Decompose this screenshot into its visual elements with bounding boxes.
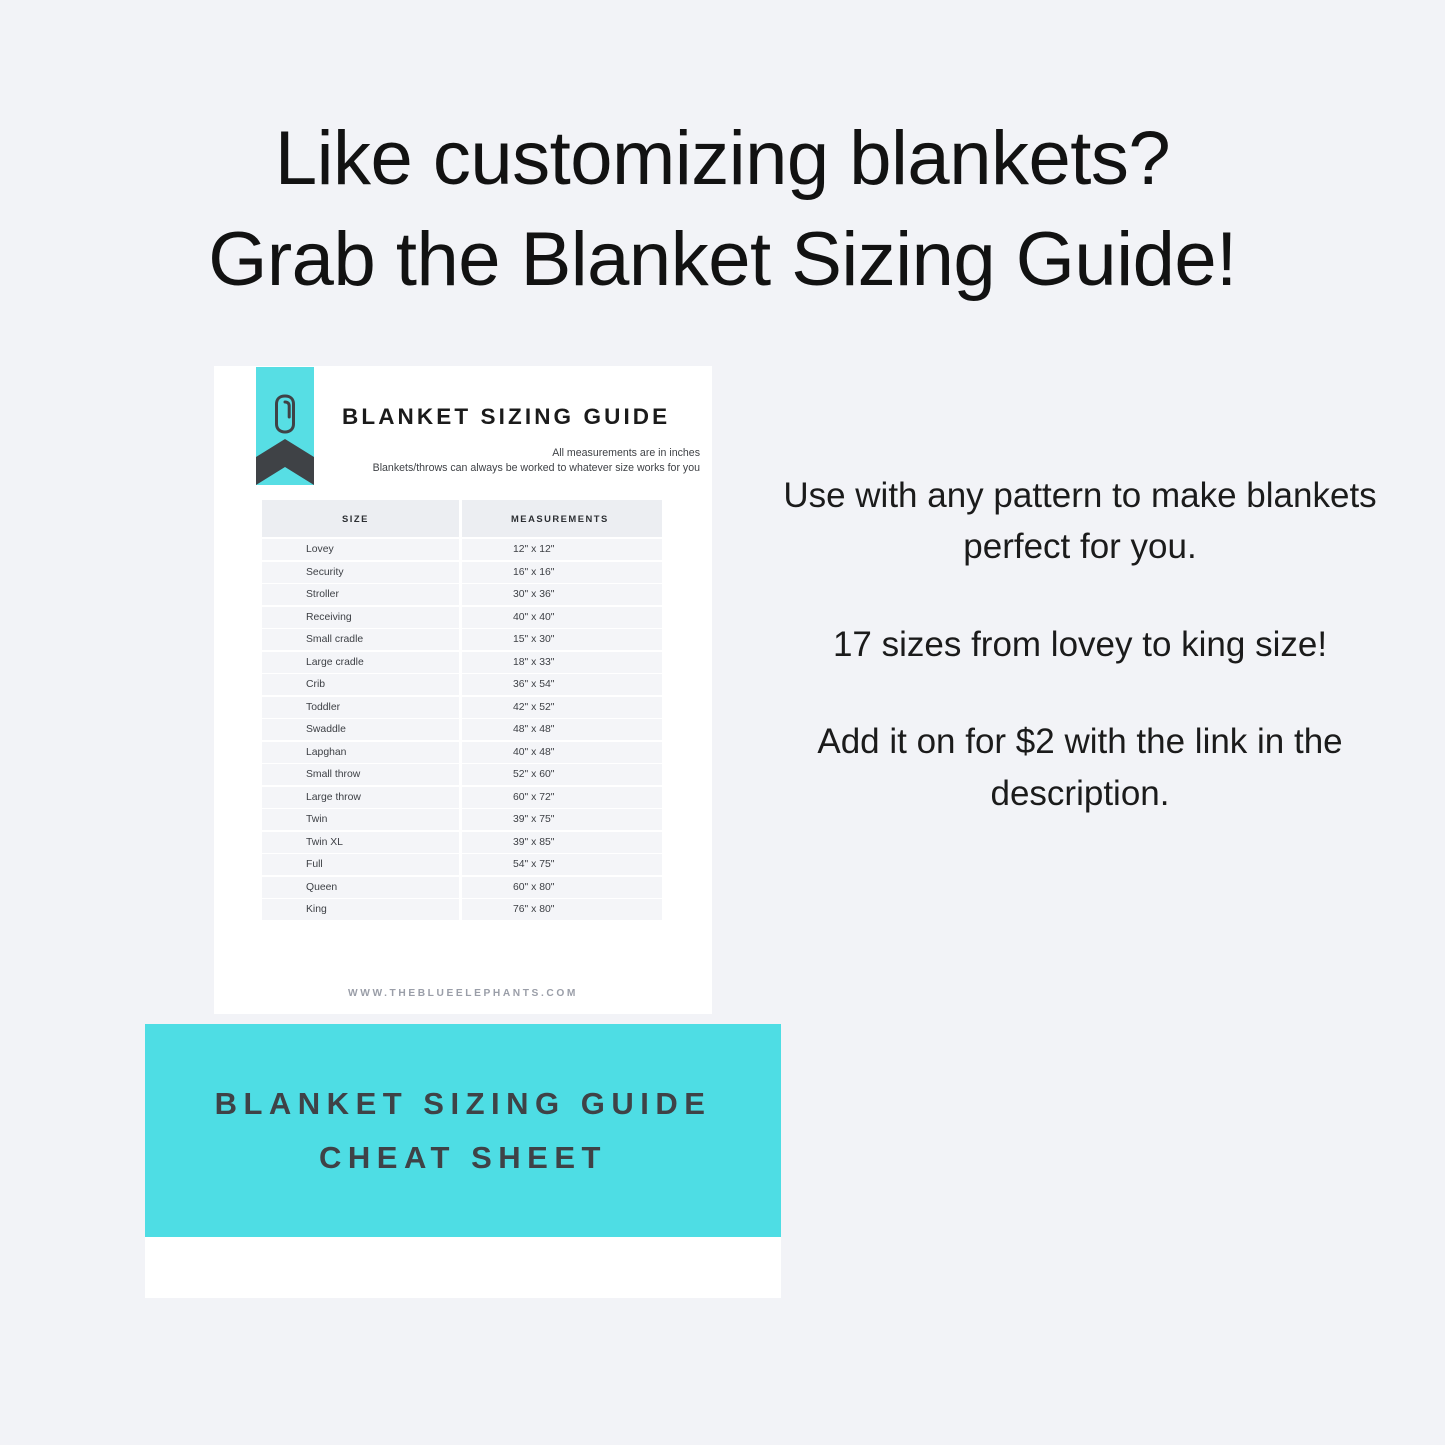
- cheat-sheet-title-line-2: CHEAT SHEET: [215, 1131, 712, 1184]
- cell-measurement: 52" x 60": [462, 764, 662, 785]
- sheet-subtitle-line-1: All measurements are in inches: [310, 446, 700, 461]
- table-row: Security16" x 16": [262, 562, 662, 583]
- headline-line-1: Like customizing blankets?: [0, 108, 1445, 209]
- cell-measurement: 60" x 80": [462, 877, 662, 898]
- cell-measurement: 16" x 16": [462, 562, 662, 583]
- cell-measurement: 54" x 75": [462, 854, 662, 875]
- table-row: Lovey12" x 12": [262, 539, 662, 560]
- table-row: Twin39" x 75": [262, 809, 662, 830]
- table-row: Toddler42" x 52": [262, 697, 662, 718]
- cell-size: Twin XL: [262, 832, 459, 853]
- cell-measurement: 76" x 80": [462, 899, 662, 920]
- table-row: Large throw60" x 72": [262, 787, 662, 808]
- cell-size: King: [262, 899, 459, 920]
- cell-measurement: 36" x 54": [462, 674, 662, 695]
- sheet-subtitle-line-2: Blankets/throws can always be worked to …: [310, 461, 700, 476]
- table-row: Small throw52" x 60": [262, 764, 662, 785]
- table-row: Receiving40" x 40": [262, 607, 662, 628]
- cell-size: Stroller: [262, 584, 459, 605]
- cell-size: Toddler: [262, 697, 459, 718]
- cell-size: Small throw: [262, 764, 459, 785]
- table-row: King76" x 80": [262, 899, 662, 920]
- cell-size: Receiving: [262, 607, 459, 628]
- page-title: Like customizing blankets? Grab the Blan…: [0, 108, 1445, 310]
- cell-size: Swaddle: [262, 719, 459, 740]
- cell-size: Twin: [262, 809, 459, 830]
- table-header-row: SIZE MEASUREMENTS: [262, 500, 662, 537]
- cheat-sheet-banner: BLANKET SIZING GUIDE CHEAT SHEET: [145, 1024, 781, 1237]
- cell-measurement: 12" x 12": [462, 539, 662, 560]
- sheet-website-url: WWW.THEBLUEELEPHANTS.COM: [214, 988, 712, 999]
- cell-size: Full: [262, 854, 459, 875]
- table-row: Small cradle15" x 30": [262, 629, 662, 650]
- copy-paragraph-3: Add it on for $2 with the link in the de…: [770, 716, 1390, 819]
- product-sheet-preview: BLANKET SIZING GUIDE All measurements ar…: [214, 366, 712, 1014]
- cell-measurement: 39" x 75": [462, 809, 662, 830]
- cell-size: Small cradle: [262, 629, 459, 650]
- sizing-table: SIZE MEASUREMENTS Lovey12" x 12"Security…: [262, 500, 662, 922]
- copy-paragraph-2: 17 sizes from lovey to king size!: [770, 619, 1390, 670]
- table-row: Stroller30" x 36": [262, 584, 662, 605]
- cell-measurement: 60" x 72": [462, 787, 662, 808]
- cell-measurement: 40" x 40": [462, 607, 662, 628]
- table-row: Crib36" x 54": [262, 674, 662, 695]
- sheet-title: BLANKET SIZING GUIDE: [342, 404, 700, 430]
- paperclip-ribbon-icon: [256, 367, 314, 485]
- table-row: Swaddle48" x 48": [262, 719, 662, 740]
- table-row: Queen60" x 80": [262, 877, 662, 898]
- cell-measurement: 42" x 52": [462, 697, 662, 718]
- cell-size: Security: [262, 562, 459, 583]
- cheat-sheet-card: BLANKET SIZING GUIDE CHEAT SHEET: [145, 1024, 781, 1298]
- table-row: Full54" x 75": [262, 854, 662, 875]
- cheat-sheet-title-line-1: BLANKET SIZING GUIDE: [215, 1077, 712, 1130]
- cell-size: Lovey: [262, 539, 459, 560]
- promo-graphic: Like customizing blankets? Grab the Blan…: [0, 0, 1445, 1445]
- table-row: Large cradle18" x 33": [262, 652, 662, 673]
- cell-size: Lapghan: [262, 742, 459, 763]
- cell-size: Large throw: [262, 787, 459, 808]
- headline-line-2: Grab the Blanket Sizing Guide!: [0, 209, 1445, 310]
- table-body: Lovey12" x 12"Security16" x 16"Stroller3…: [262, 539, 662, 920]
- paperclip-icon: [272, 393, 298, 435]
- cell-size: Large cradle: [262, 652, 459, 673]
- sheet-subtitle: All measurements are in inches Blankets/…: [310, 446, 700, 476]
- copy-paragraph-1: Use with any pattern to make blankets pe…: [770, 470, 1390, 573]
- column-header-measurements: MEASUREMENTS: [462, 500, 662, 537]
- cell-measurement: 15" x 30": [462, 629, 662, 650]
- cell-size: Queen: [262, 877, 459, 898]
- cell-measurement: 39" x 85": [462, 832, 662, 853]
- cell-measurement: 40" x 48": [462, 742, 662, 763]
- table-row: Twin XL39" x 85": [262, 832, 662, 853]
- cheat-sheet-title: BLANKET SIZING GUIDE CHEAT SHEET: [215, 1077, 712, 1184]
- marketing-copy: Use with any pattern to make blankets pe…: [770, 470, 1390, 819]
- table-row: Lapghan40" x 48": [262, 742, 662, 763]
- cell-measurement: 48" x 48": [462, 719, 662, 740]
- cell-measurement: 18" x 33": [462, 652, 662, 673]
- cell-size: Crib: [262, 674, 459, 695]
- cell-measurement: 30" x 36": [462, 584, 662, 605]
- column-header-size: SIZE: [262, 500, 459, 537]
